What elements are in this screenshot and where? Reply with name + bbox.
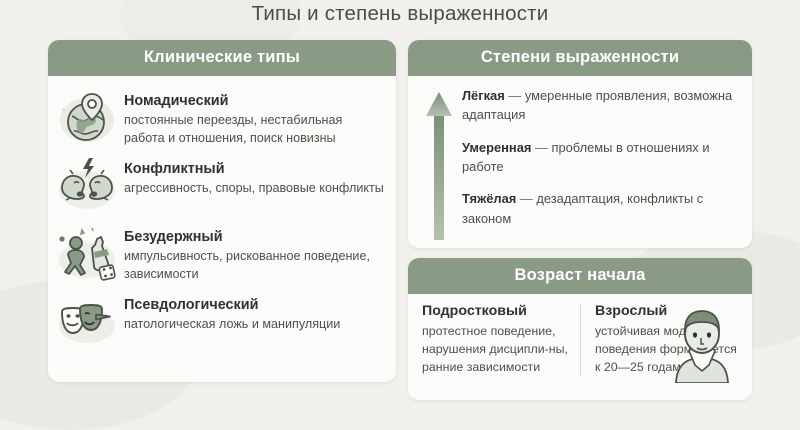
globe-pin-icon bbox=[56, 86, 118, 148]
running-bottle-dice-icon bbox=[56, 222, 118, 284]
clinical-types-list: Номадический постоянные переезды, нестаб… bbox=[48, 76, 396, 356]
list-item: Конфликтный агрессивность, споры, правов… bbox=[48, 152, 396, 220]
list-item: Безудержный импульсивность, рискованное … bbox=[48, 220, 396, 288]
clinical-types-card: Клинические типы Номадический постоянные… bbox=[48, 40, 396, 382]
severity-dash: — bbox=[508, 88, 521, 103]
theater-masks-icon bbox=[56, 290, 118, 352]
list-item: Псевдологический патологическая ложь и м… bbox=[48, 288, 396, 356]
clinical-types-header: Клинические типы bbox=[48, 40, 396, 76]
age-column-title: Подростковый bbox=[422, 303, 570, 319]
severity-term: Тяжёлая bbox=[462, 191, 516, 206]
severity-header: Степени выраженности bbox=[408, 40, 752, 76]
list-item-description: постоянные переезды, нестабильная работа… bbox=[124, 112, 386, 148]
list-item: Номадический постоянные переезды, нестаб… bbox=[48, 84, 396, 152]
list-item-description: агрессивность, споры, правовые конфликты bbox=[124, 180, 384, 198]
arguing-heads-icon bbox=[56, 154, 118, 216]
page-title: Типы и степень выраженности bbox=[0, 2, 800, 26]
list-item-title: Конфликтный bbox=[124, 161, 225, 177]
age-of-onset-card: Возраст начала Подростковый протестное п… bbox=[408, 258, 752, 400]
age-of-onset-header: Возраст начала bbox=[408, 258, 752, 294]
list-item-description: патологическая ложь и манипуляции bbox=[124, 316, 340, 334]
severity-term: Умеренная bbox=[462, 140, 531, 155]
list-item: Умеренная — проблемы в отношениях и рабо… bbox=[462, 138, 740, 177]
severity-term: Лёгкая bbox=[462, 88, 505, 103]
up-arrow-icon bbox=[422, 86, 456, 247]
list-item: Тяжёлая — дезадаптация, конфликты с зако… bbox=[462, 189, 740, 228]
list-item-title: Псевдологический bbox=[124, 297, 258, 313]
severity-card: Степени выраженности Лёгкая — умеренные … bbox=[408, 40, 752, 248]
severity-list: Лёгкая — умеренные проявления, возможна … bbox=[456, 86, 740, 247]
age-column-adolescent: Подростковый протестное поведение, наруш… bbox=[408, 303, 580, 377]
list-item-description: импульсивность, рискованное поведение, з… bbox=[124, 248, 386, 284]
list-item: Лёгкая — умеренные проявления, возможна … bbox=[462, 86, 740, 125]
person-portrait-icon bbox=[656, 305, 748, 383]
list-item-title: Номадический bbox=[124, 93, 229, 109]
severity-dash: — bbox=[520, 191, 533, 206]
severity-dash: — bbox=[535, 140, 548, 155]
age-column-description: протестное поведение, нарушения дисципли… bbox=[422, 323, 570, 377]
list-item-title: Безудержный bbox=[124, 229, 223, 245]
